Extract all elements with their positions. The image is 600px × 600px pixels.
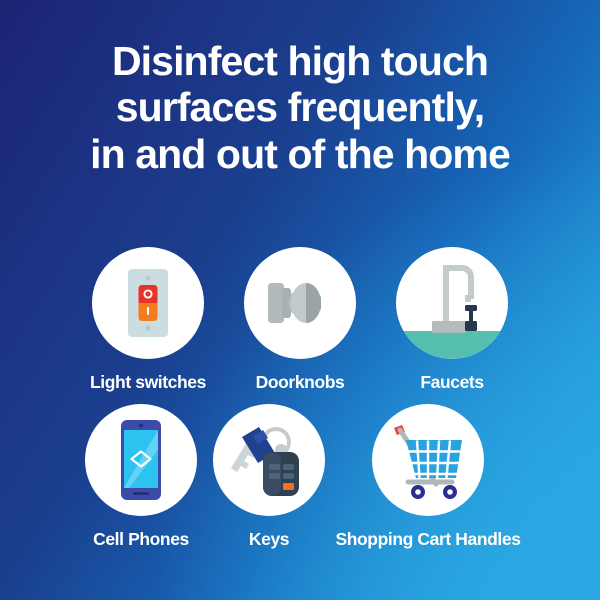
grid-item-keys[interactable]: Keys — [205, 404, 333, 550]
grid-item-light-switches[interactable]: Light switches — [72, 247, 224, 393]
page-title: Disinfect high touch surfaces frequently… — [0, 38, 600, 177]
headline-line-1: Disinfect high touch — [0, 38, 600, 84]
grid-item-faucets[interactable]: Faucets — [376, 247, 528, 393]
grid-item-label: Shopping Cart Handles — [335, 529, 520, 550]
faucet-icon — [396, 247, 508, 359]
cell-phone-icon — [85, 404, 197, 516]
headline-line-3: in and out of the home — [0, 131, 600, 177]
grid-item-label: Light switches — [90, 372, 206, 393]
doorknob-icon — [244, 247, 356, 359]
grid-item-label: Cell Phones — [93, 529, 189, 550]
grid-item-label: Doorknobs — [256, 372, 345, 393]
shopping-cart-icon — [372, 404, 484, 516]
icon-row-2: Cell Phones — [0, 404, 600, 550]
headline-line-2: surfaces frequently, — [0, 84, 600, 130]
icon-grid: Light switches Doorknobs — [0, 247, 600, 550]
light-switch-icon — [92, 247, 204, 359]
poster-canvas: Disinfect high touch surfaces frequently… — [0, 0, 600, 600]
icon-row-1: Light switches Doorknobs — [0, 247, 600, 393]
grid-item-cell-phones[interactable]: Cell Phones — [77, 404, 205, 550]
grid-item-label: Keys — [249, 529, 289, 550]
grid-item-shopping-cart-handles[interactable]: Shopping Cart Handles — [333, 404, 523, 550]
grid-item-label: Faucets — [420, 372, 483, 393]
grid-item-doorknobs[interactable]: Doorknobs — [224, 247, 376, 393]
keys-icon — [213, 404, 325, 516]
